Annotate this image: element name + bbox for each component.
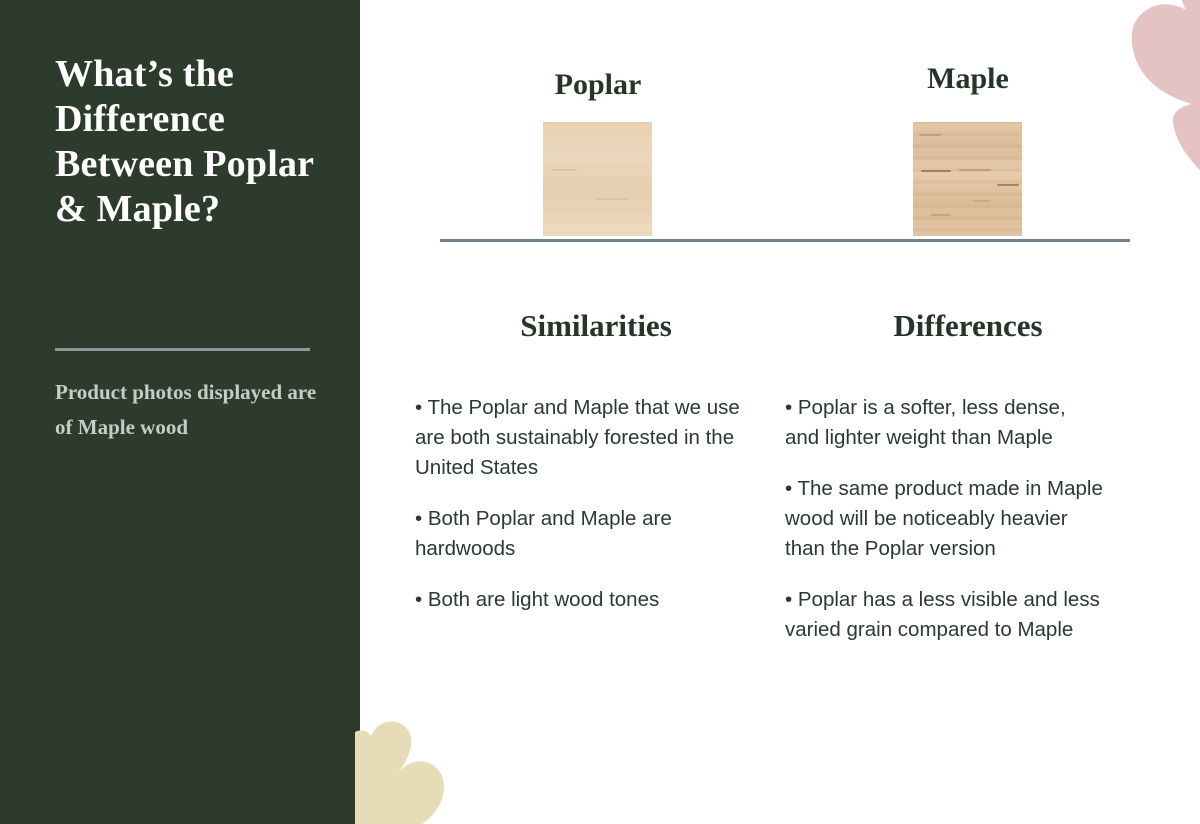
- sidebar-note: Product photos displayed are of Maple wo…: [55, 375, 335, 445]
- column-heading-similarities: Similarities: [496, 308, 696, 344]
- list-item: • Poplar is a softer, less dense, and li…: [785, 393, 1105, 453]
- slide-canvas: What’s the Difference Between Poplar & M…: [0, 0, 1200, 824]
- similarities-bullet-list: • The Poplar and Maple that we use are b…: [415, 393, 745, 615]
- list-item: • The Poplar and Maple that we use are b…: [415, 393, 745, 483]
- pink-leaf-icon: [1108, 0, 1200, 191]
- poplar-wood-swatch: [543, 122, 652, 236]
- grain-streak: [959, 169, 991, 171]
- poplar-wood-texture: [543, 122, 652, 236]
- list-item: • Poplar has a less visible and less var…: [785, 585, 1105, 645]
- page-title: What’s the Difference Between Poplar & M…: [55, 52, 335, 232]
- grain-streak: [597, 198, 627, 200]
- wood-sample-heading-poplar: Poplar: [498, 68, 698, 102]
- differences-bullet-list: • Poplar is a softer, less dense, and li…: [785, 393, 1105, 645]
- grain-streak: [931, 214, 951, 216]
- maple-wood-swatch: [913, 122, 1022, 236]
- grain-streak: [921, 170, 951, 172]
- sidebar-panel: What’s the Difference Between Poplar & M…: [0, 0, 360, 824]
- grain-streak: [997, 184, 1019, 186]
- column-heading-differences: Differences: [868, 308, 1068, 344]
- list-item: • Both are light wood tones: [415, 585, 745, 615]
- grain-streak: [973, 200, 991, 202]
- grain-streak: [551, 169, 577, 171]
- maple-wood-texture: [913, 122, 1022, 236]
- sidebar-divider: [55, 348, 310, 351]
- cream-leaf-icon: [355, 718, 455, 824]
- list-item: • The same product made in Maple wood wi…: [785, 474, 1105, 564]
- grain-streak: [919, 134, 941, 136]
- list-item: • Both Poplar and Maple are hardwoods: [415, 504, 745, 564]
- section-divider: [440, 239, 1130, 242]
- wood-sample-heading-maple: Maple: [868, 62, 1068, 96]
